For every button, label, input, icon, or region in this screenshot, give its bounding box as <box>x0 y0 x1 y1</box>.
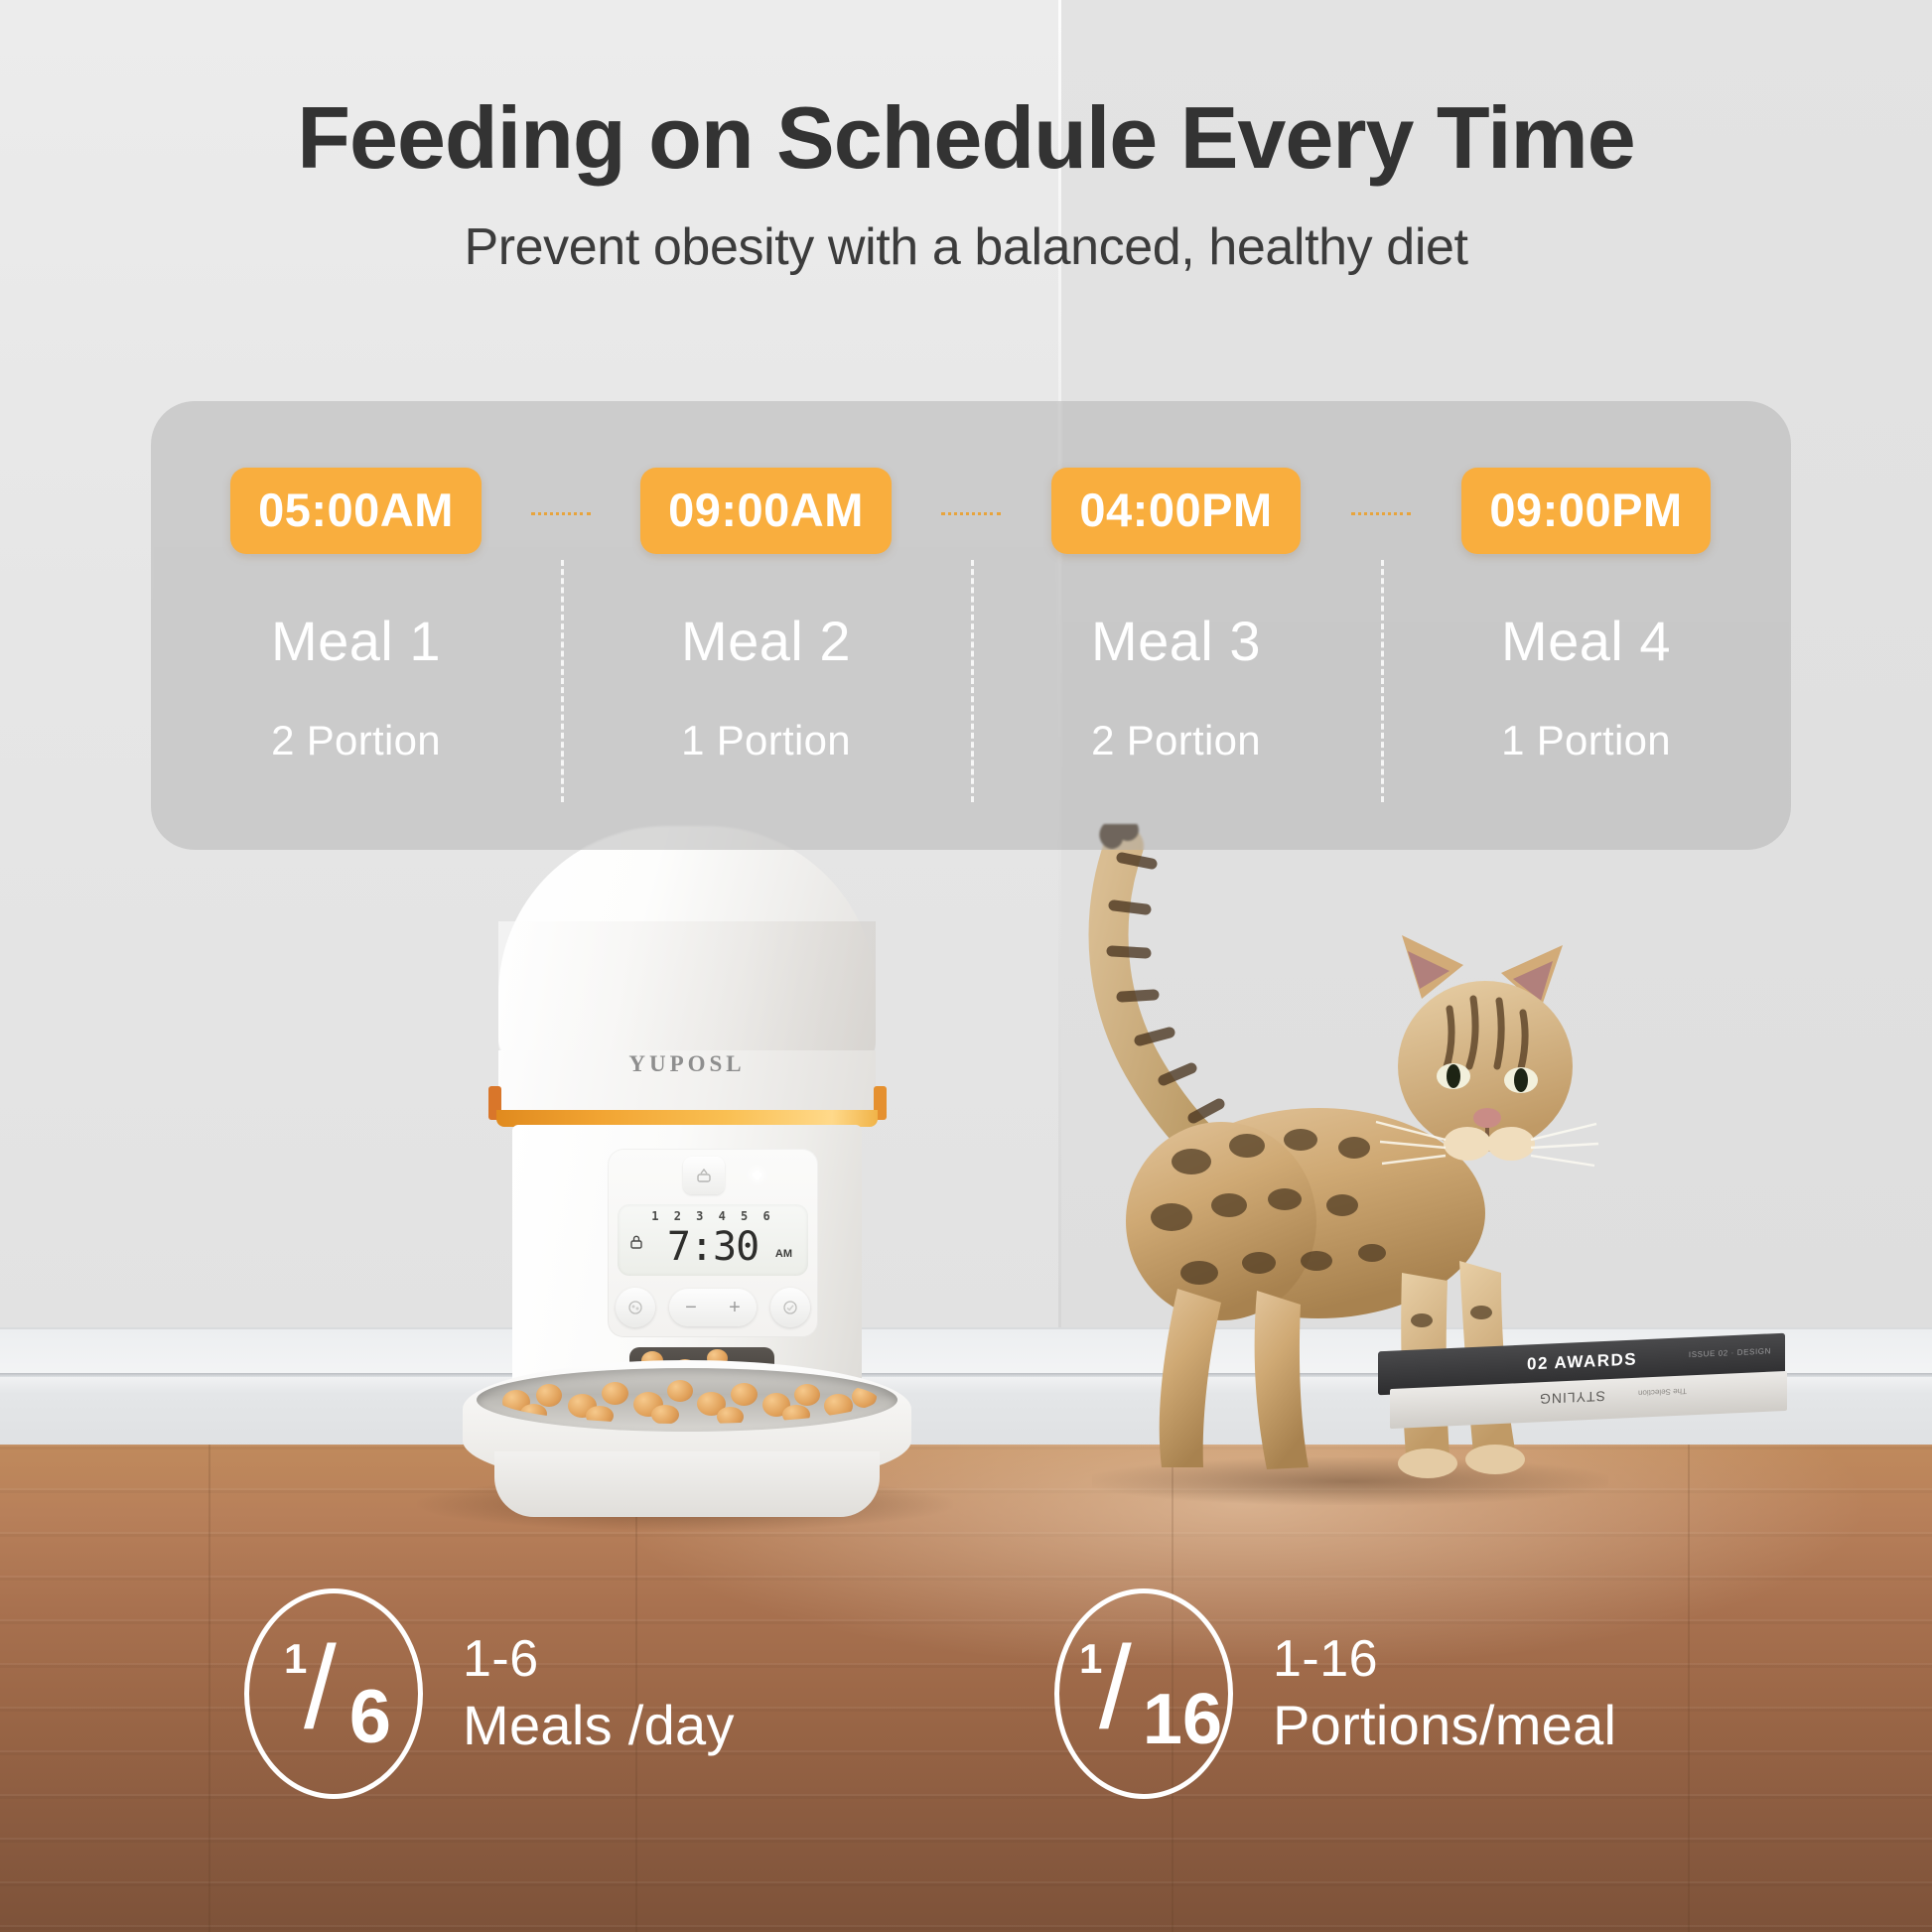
button-row: − + <box>608 1288 818 1327</box>
meal-column-4: 09:00PM Meal 4 1 Portion <box>1381 401 1791 850</box>
magazine-stack: 02 AWARDS ISSUE 02 · DESIGN STYLING The … <box>1378 1332 1805 1442</box>
dispense-icon[interactable] <box>683 1157 725 1194</box>
badge-portions-per-meal: 1 / 16 1-16 Portions/meal <box>1054 1588 1616 1799</box>
fraction-circle-icon: 1 / 6 <box>244 1588 423 1799</box>
book-bottom-sub: The Selection <box>1638 1387 1687 1398</box>
kibble <box>520 1404 547 1424</box>
page-title: Feeding on Schedule Every Time <box>0 0 1932 182</box>
manual-feed-icon[interactable] <box>616 1288 655 1327</box>
cat-hind-leg <box>1160 1289 1221 1467</box>
meal-label: Meal 3 <box>1091 609 1261 673</box>
confirm-icon[interactable] <box>770 1288 810 1327</box>
book-top-title: 02 AWARDS <box>1527 1349 1637 1374</box>
minus-plus-buttons[interactable]: − + <box>669 1289 757 1326</box>
meal-label: Meal 2 <box>681 609 851 673</box>
kibble <box>651 1405 679 1424</box>
header-block: Feeding on Schedule Every Time Prevent o… <box>0 0 1932 277</box>
fraction-one-sixteenth: 1 / 16 <box>1069 1629 1218 1758</box>
feeding-schedule-card: 05:00AM Meal 1 2 Portion 09:00AM Meal 2 … <box>151 401 1791 850</box>
feeder-base <box>494 1451 880 1517</box>
meal-time-badge[interactable]: 05:00AM <box>230 468 482 554</box>
lcd-time-value: 7:30 <box>618 1224 808 1270</box>
fraction-denominator: 6 <box>349 1674 391 1760</box>
plus-button[interactable]: + <box>729 1297 741 1319</box>
feeder-lid-shading <box>498 921 876 1068</box>
badge-range: 1-16 <box>1273 1628 1616 1691</box>
fraction-one-sixth: 1 / 6 <box>274 1629 393 1758</box>
meal-indicator-row: 1 2 3 4 5 6 <box>618 1209 808 1223</box>
lcd-display: 1 2 3 4 5 6 7:30 AM <box>618 1204 808 1276</box>
meal-portion: 1 Portion <box>681 717 851 764</box>
meal-column-1: 05:00AM Meal 1 2 Portion <box>151 401 561 850</box>
meal-portion: 2 Portion <box>1091 717 1261 764</box>
kibble <box>852 1386 877 1408</box>
brand-logo: YUPOSL <box>498 1051 876 1077</box>
schedule-connector-icon <box>941 512 1001 515</box>
kibble <box>717 1407 744 1424</box>
cat-paw <box>1465 1445 1525 1474</box>
lcd-ampm: AM <box>775 1248 792 1260</box>
meal-time-badge[interactable]: 09:00PM <box>1461 468 1710 554</box>
badge-unit: Meals /day <box>463 1692 735 1759</box>
kibble <box>794 1384 820 1406</box>
badge-meals-per-day: 1 / 6 1-6 Meals /day <box>244 1588 735 1799</box>
badge-range: 1-6 <box>463 1628 735 1691</box>
minus-button[interactable]: − <box>685 1297 697 1319</box>
book-bottom-title: STYLING <box>1539 1388 1605 1407</box>
badge-text: 1-6 Meals /day <box>463 1628 735 1759</box>
meal-portion: 1 Portion <box>1501 717 1671 764</box>
kibble <box>667 1380 693 1402</box>
fraction-slash-icon: / <box>1099 1629 1132 1746</box>
meal-label: Meal 1 <box>271 609 441 673</box>
badge-unit: Portions/meal <box>1273 1692 1616 1759</box>
kibble <box>536 1384 562 1407</box>
kibble <box>731 1383 758 1406</box>
kibble <box>586 1406 614 1424</box>
meal-column-3: 04:00PM Meal 3 2 Portion <box>971 401 1381 850</box>
fraction-denominator: 16 <box>1143 1679 1222 1760</box>
fraction-circle-icon: 1 / 16 <box>1054 1588 1233 1799</box>
schedule-connector-icon <box>1351 512 1411 515</box>
feeder-hopper: YUPOSL <box>498 1050 876 1112</box>
schedule-connector-icon <box>531 512 591 515</box>
meal-column-2: 09:00AM Meal 2 1 Portion <box>561 401 971 850</box>
kibble <box>782 1405 810 1424</box>
fraction-slash-icon: / <box>304 1629 337 1746</box>
meal-time-badge[interactable]: 09:00AM <box>640 468 892 554</box>
status-led-icon <box>753 1171 761 1179</box>
feature-badges: 1 / 6 1-6 Meals /day 1 / 16 1-16 Portion… <box>0 1588 1932 1847</box>
meal-time-badge[interactable]: 04:00PM <box>1051 468 1300 554</box>
page-subtitle: Prevent obesity with a balanced, healthy… <box>0 182 1932 277</box>
book-top-sub: ISSUE 02 · DESIGN <box>1689 1346 1771 1359</box>
kibble <box>602 1382 628 1405</box>
cat-head <box>1376 935 1598 1166</box>
control-panel: 1 2 3 4 5 6 7:30 AM <box>608 1149 818 1337</box>
cat-paw <box>1398 1449 1457 1478</box>
meal-label: Meal 4 <box>1501 609 1671 673</box>
cat-nose <box>1473 1108 1501 1128</box>
meal-portion: 2 Portion <box>271 717 441 764</box>
feeder-body: 1 2 3 4 5 6 7:30 AM <box>512 1125 862 1393</box>
badge-text: 1-16 Portions/meal <box>1273 1628 1616 1759</box>
kibble <box>824 1394 853 1418</box>
pet-feeder-device: YUPOSL 1 2 3 4 5 6 7:30 <box>475 826 892 1511</box>
bowl-food <box>496 1374 878 1424</box>
